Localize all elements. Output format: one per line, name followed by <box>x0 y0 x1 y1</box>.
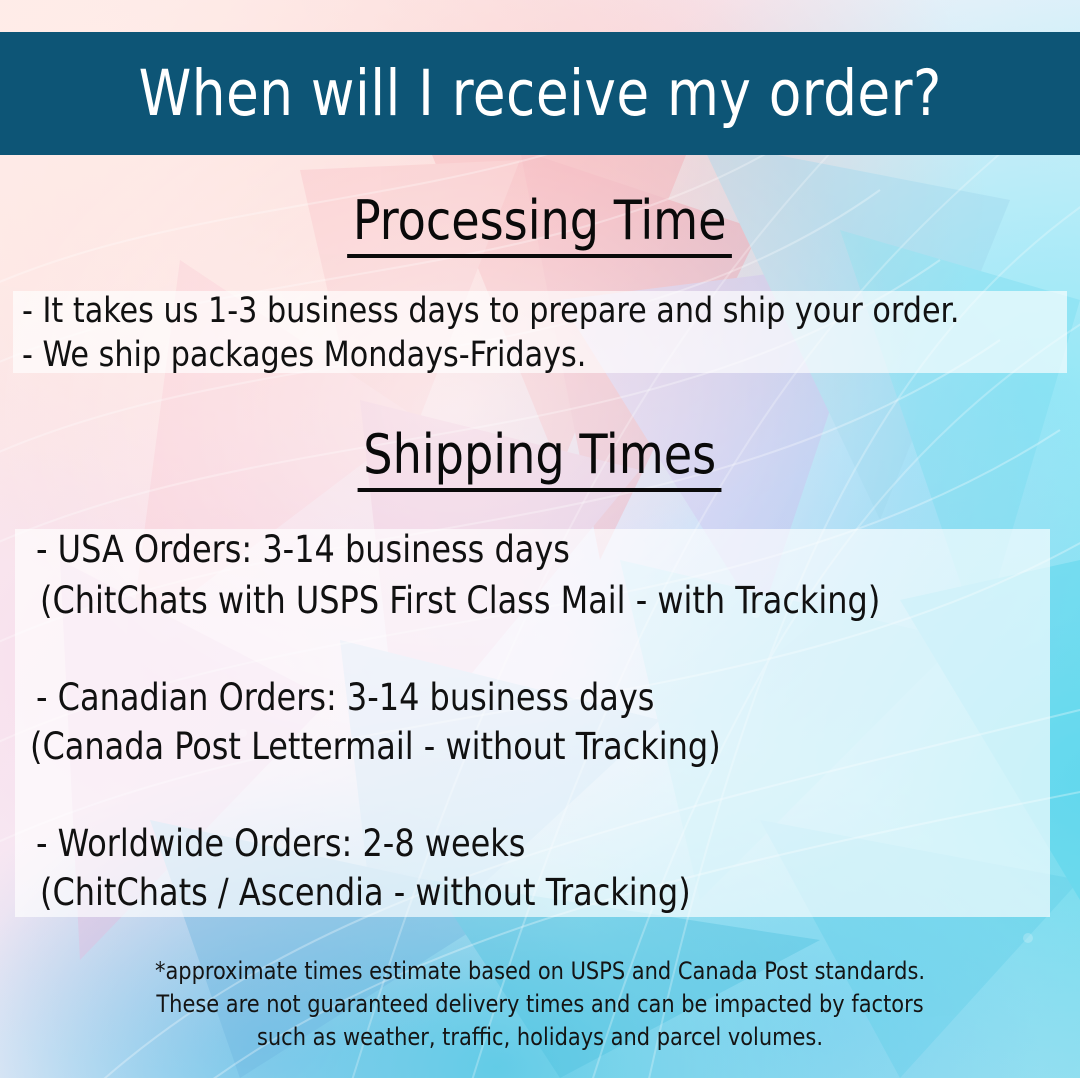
shipping-entry-worldwide-line-1: - Worldwide Orders: 2-8 weeks <box>36 825 525 862</box>
section-heading-shipping-times: Shipping Times <box>0 428 1080 492</box>
footnote: *approximate times estimate based on USP… <box>0 955 1080 1054</box>
processing-time-line-2: - We ship packages Mondays-Fridays. <box>22 338 586 373</box>
shipping-entry-canada-line-2: (Canada Post Lettermail - without Tracki… <box>30 728 721 765</box>
shipping-entry-usa-line-2: (ChitChats with USPS First Class Mail - … <box>40 582 880 619</box>
processing-time-line-1: - It takes us 1-3 business days to prepa… <box>22 294 960 329</box>
shipping-info-graphic: When will I receive my order? Processing… <box>0 0 1080 1078</box>
page-title: When will I receive my order? <box>138 62 941 125</box>
header-banner: When will I receive my order? <box>0 32 1080 155</box>
footnote-line-1: *approximate times estimate based on USP… <box>16 955 1064 988</box>
section-heading-shipping-times-label: Shipping Times <box>358 428 722 492</box>
shipping-entry-worldwide-line-2: (ChitChats / Ascendia - without Tracking… <box>40 874 691 911</box>
section-heading-processing-time-label: Processing Time <box>347 194 732 258</box>
section-heading-processing-time: Processing Time <box>0 194 1080 258</box>
footnote-line-3: such as weather, traffic, holidays and p… <box>16 1021 1064 1054</box>
footnote-line-2: These are not guaranteed delivery times … <box>16 988 1064 1021</box>
shipping-entry-canada-line-1: - Canadian Orders: 3-14 business days <box>36 679 654 716</box>
shipping-entry-usa-line-1: - USA Orders: 3-14 business days <box>36 531 570 568</box>
